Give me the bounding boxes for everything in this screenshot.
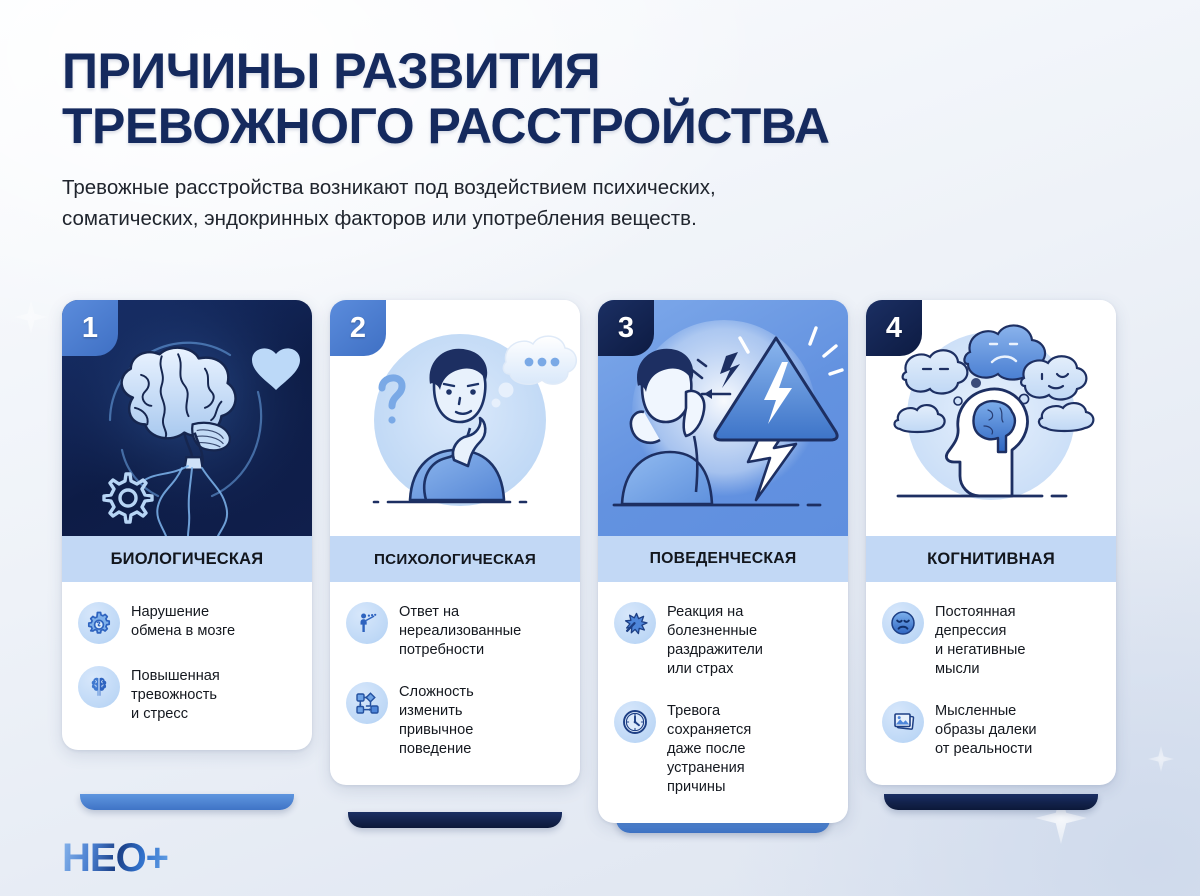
page-subtitle-line-1: Тревожные расстройства возникают под воз… — [62, 172, 1002, 203]
photos-icon — [882, 701, 924, 743]
bullet-item: Сложностьизменитьпривычноеповедение — [346, 682, 564, 759]
bullet-item: Постояннаядепрессияи негативныемысли — [882, 602, 1100, 679]
page-title-line-1: ПРИЧИНЫ РАЗВИТИЯ — [62, 44, 1062, 99]
page-subtitle-line-2: соматических, эндокринных факторов или у… — [62, 203, 1002, 234]
card-psychological[interactable]: 2 ПСИХОЛОГИЧЕСКАЯ — [330, 300, 580, 828]
head-thought-clouds-illustration: 4 — [866, 300, 1116, 536]
bullet-text: Сложностьизменитьпривычноеповедение — [399, 682, 474, 759]
wink-cloud-icon — [1021, 356, 1086, 399]
card-bullets: Постояннаядепрессияи негативныемысли Мыс… — [866, 582, 1116, 785]
gear-brain-icon — [78, 602, 120, 644]
bullet-text: Постояннаядепрессияи негативныемысли — [935, 602, 1025, 679]
sad-face-icon — [882, 602, 924, 644]
sparkle-decoration — [14, 300, 48, 334]
card-label: БИОЛОГИЧЕСКАЯ — [111, 550, 264, 569]
page-title-line-2: ТРЕВОЖНОГО РАССТРОЙСТВА — [62, 99, 1062, 154]
small-cloud-icon — [1039, 403, 1093, 431]
flowchart-icon — [346, 682, 388, 724]
card-label-band: ПСИХОЛОГИЧЕСКАЯ — [330, 536, 580, 582]
clock-icon — [614, 701, 656, 743]
card-label: ПОВЕДЕНЧЕСКАЯ — [650, 550, 797, 568]
bullet-text: Мысленныеобразы далекиот реальности — [935, 701, 1037, 759]
header: ПРИЧИНЫ РАЗВИТИЯ ТРЕВОЖНОГО РАССТРОЙСТВА… — [62, 44, 1062, 234]
card-biological[interactable]: 1 БИОЛОГИЧЕСКАЯ Нарушениеобмена в мозге — [62, 300, 312, 810]
startled-man-warning-illustration: 3 — [598, 300, 848, 536]
card-label-band: БИОЛОГИЧЕСКАЯ — [62, 536, 312, 582]
card-number-badge: 2 — [330, 300, 386, 356]
bullet-item: Повышеннаятревожностьи стресс — [78, 666, 296, 724]
card-number-badge: 3 — [598, 300, 654, 356]
card-behavioral[interactable]: 3 ПОВЕДЕНЧЕСКАЯ Реакция наболезненныераз… — [598, 300, 848, 833]
bullet-text: Ответ нанереализованныепотребности — [399, 602, 521, 660]
cards-row: 1 БИОЛОГИЧЕСКАЯ Нарушениеобмена в мозге — [62, 300, 1140, 833]
bullet-text: Повышеннаятревожностьи стресс — [131, 666, 220, 724]
burst-impact-icon — [614, 602, 656, 644]
card-bullets: Реакция наболезненныераздражителиили стр… — [598, 582, 848, 823]
bullet-text: Реакция наболезненныераздражителиили стр… — [667, 602, 763, 679]
page-title: ПРИЧИНЫ РАЗВИТИЯ ТРЕВОЖНОГО РАССТРОЙСТВА — [62, 44, 1062, 154]
card-cognitive[interactable]: 4 КОГНИТИВНАЯ — [866, 300, 1116, 810]
bullet-text: Тревогасохраняетсядаже послеустраненияпр… — [667, 701, 751, 797]
bullet-text: Нарушениеобмена в мозге — [131, 602, 235, 641]
card-number-badge: 4 — [866, 300, 922, 356]
card-label: КОГНИТИВНАЯ — [927, 550, 1055, 569]
brain-icon — [78, 666, 120, 708]
bullet-item: Реакция наболезненныераздражителиили стр… — [614, 602, 832, 679]
card-label: ПСИХОЛОГИЧЕСКАЯ — [374, 551, 536, 568]
thinking-man-illustration: 2 — [330, 300, 580, 536]
card-foot-accent — [80, 794, 294, 810]
person-reaching-icon — [346, 602, 388, 644]
card-number-badge: 1 — [62, 300, 118, 356]
card-foot-accent — [348, 812, 562, 828]
small-cloud-icon — [894, 405, 944, 432]
bullet-item: Нарушениеобмена в мозге — [78, 602, 296, 644]
bullet-item: Ответ нанереализованныепотребности — [346, 602, 564, 660]
card-bullets: Нарушениеобмена в мозге — [62, 582, 312, 750]
card-foot-accent — [884, 794, 1098, 810]
brand-logo: НЕО+ — [62, 838, 168, 878]
sparkle-decoration — [1148, 746, 1174, 772]
card-bullets: Ответ нанереализованныепотребности — [330, 582, 580, 785]
bullet-item: Тревогасохраняетсядаже послеустраненияпр… — [614, 701, 832, 797]
card-label-band: КОГНИТИВНАЯ — [866, 536, 1116, 582]
bullet-item: Мысленныеобразы далекиот реальности — [882, 701, 1100, 759]
card-label-band: ПОВЕДЕНЧЕСКАЯ — [598, 536, 848, 582]
page-subtitle: Тревожные расстройства возникают под воз… — [62, 172, 1002, 234]
brain-circuit-illustration: 1 — [62, 300, 312, 536]
